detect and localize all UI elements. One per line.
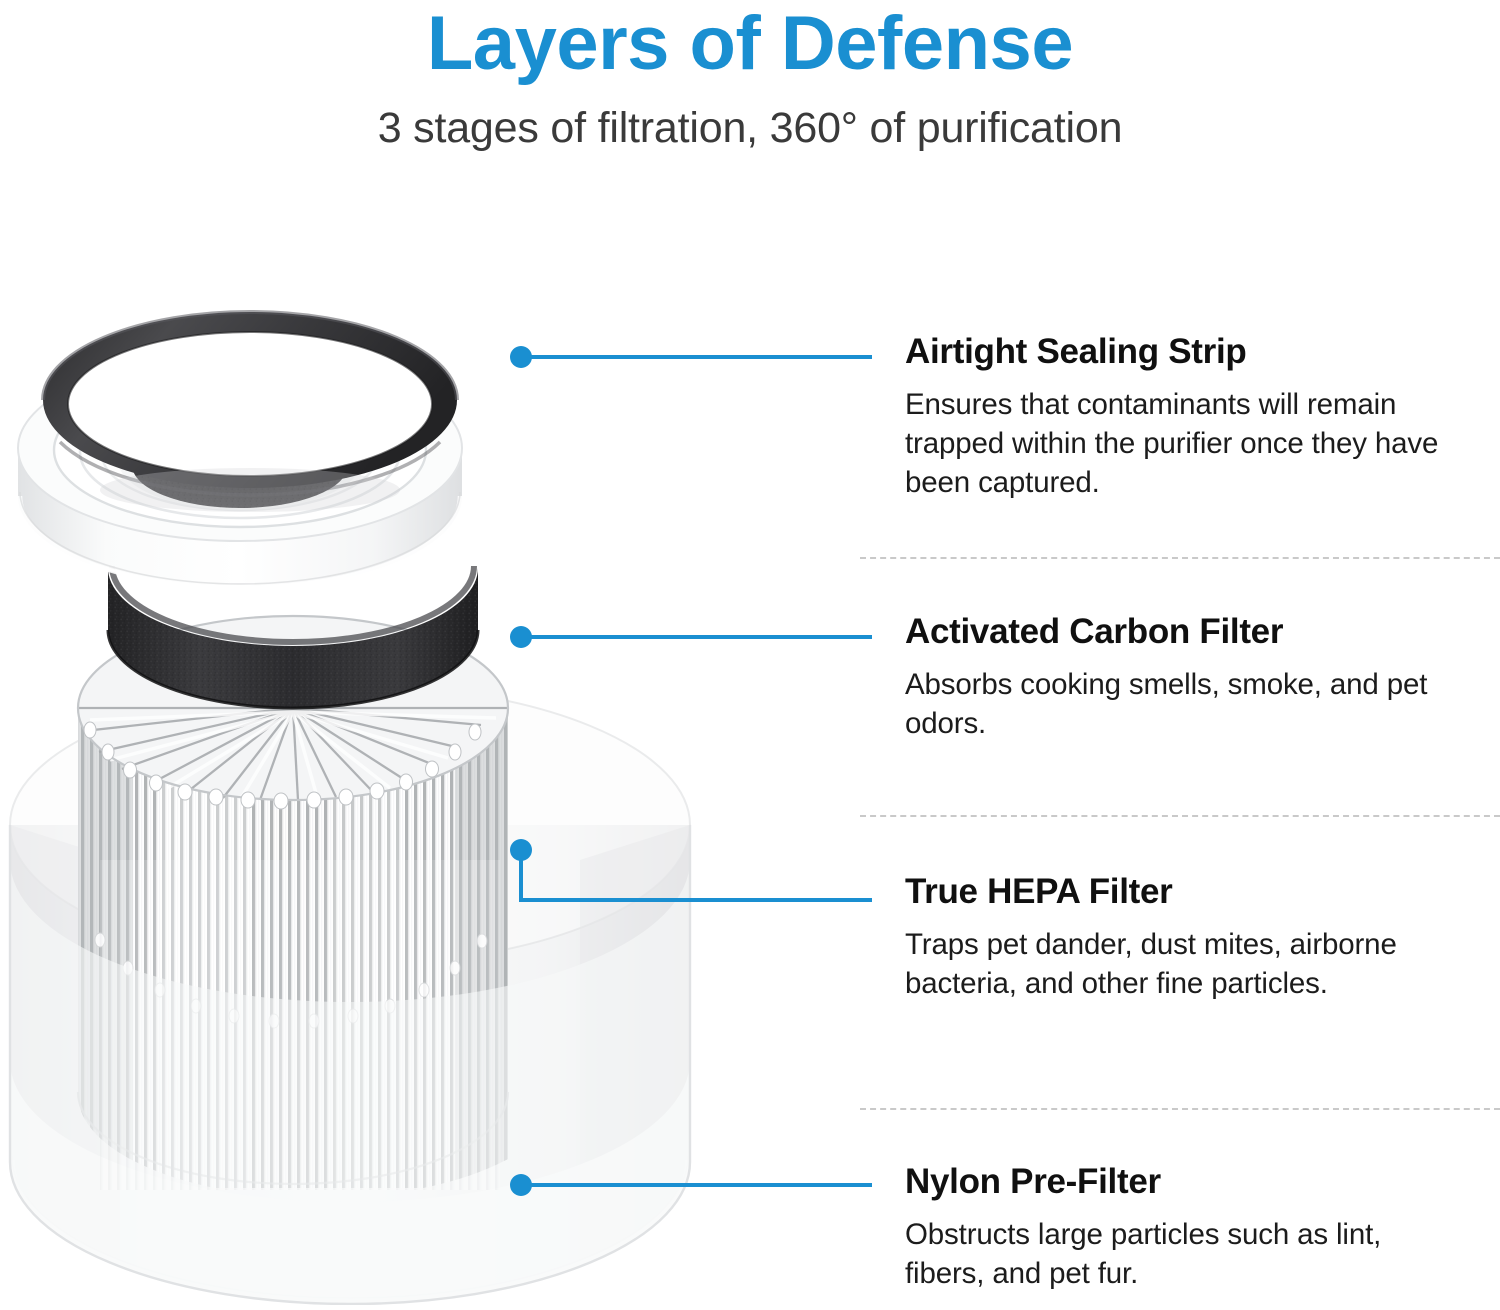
feature-body: Traps pet dander, dust mites, airborne b… bbox=[905, 925, 1465, 1003]
page-subtitle: 3 stages of filtration, 360° of purifica… bbox=[0, 82, 1500, 150]
feature-body: Obstructs large particles such as lint, … bbox=[905, 1215, 1465, 1293]
feature-pre-filter: Nylon Pre-Filter Obstructs large particl… bbox=[905, 1163, 1465, 1293]
feature-carbon-filter: Activated Carbon Filter Absorbs cooking … bbox=[905, 613, 1465, 743]
divider-3 bbox=[860, 1108, 1500, 1110]
feature-heading: Activated Carbon Filter bbox=[905, 613, 1465, 651]
divider-1 bbox=[860, 557, 1500, 559]
feature-body: Absorbs cooking smells, smoke, and pet o… bbox=[905, 665, 1465, 743]
divider-2 bbox=[860, 815, 1500, 817]
feature-hepa-filter: True HEPA Filter Traps pet dander, dust … bbox=[905, 873, 1465, 1003]
feature-sealing-strip: Airtight Sealing Strip Ensures that cont… bbox=[905, 333, 1465, 503]
page-title: Layers of Defense bbox=[0, 0, 1500, 82]
product-illustration bbox=[0, 300, 760, 1305]
feature-heading: Airtight Sealing Strip bbox=[905, 333, 1465, 371]
feature-heading: True HEPA Filter bbox=[905, 873, 1465, 911]
feature-heading: Nylon Pre-Filter bbox=[905, 1163, 1465, 1201]
header: Layers of Defense 3 stages of filtration… bbox=[0, 0, 1500, 150]
feature-body: Ensures that contaminants will remain tr… bbox=[905, 385, 1465, 503]
